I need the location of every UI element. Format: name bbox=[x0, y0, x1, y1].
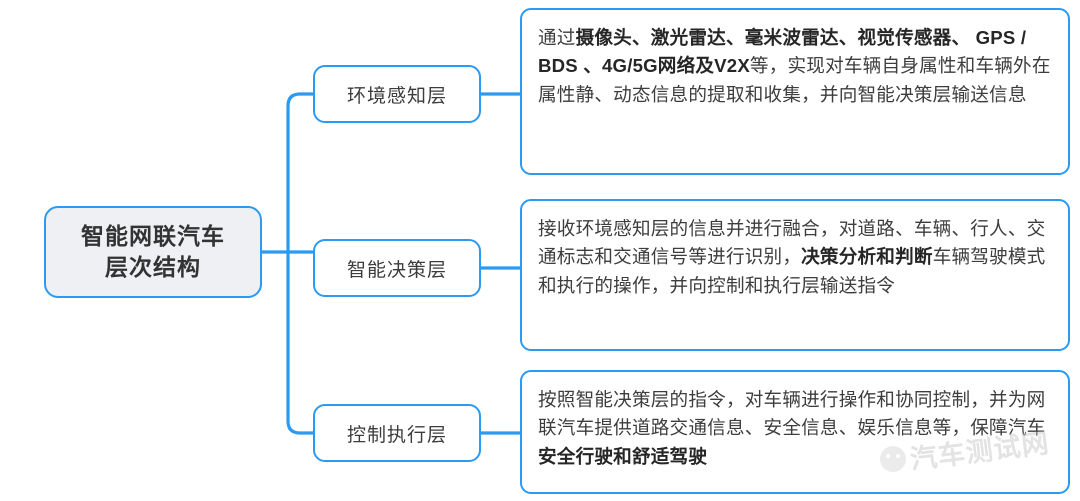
layer-node-perception[interactable]: 环境感知层 bbox=[313, 65, 481, 123]
description-text: 通过 bbox=[538, 27, 576, 48]
layer-node-label: 环境感知层 bbox=[347, 81, 447, 108]
description-node-perception[interactable]: 通过摄像头、激光雷达、毫米波雷达、视觉传感器、 GPS / BDS 、4G/5G… bbox=[520, 8, 1070, 175]
layer-node-control[interactable]: 控制执行层 bbox=[313, 404, 481, 462]
description-emphasis: 安全行驶和舒适驾驶 bbox=[538, 446, 707, 467]
root-node[interactable]: 智能网联汽车 层次结构 bbox=[44, 206, 262, 298]
description-node-control[interactable]: 按照智能决策层的指令，对车辆进行操作和协同控制，并为网联汽车提供道路交通信息、安… bbox=[520, 370, 1070, 494]
description-node-decision[interactable]: 接收环境感知层的信息并进行融合，对道路、车辆、行人、交通标志和交通信号等进行识别… bbox=[520, 199, 1070, 351]
root-node-line-1: 智能网联汽车 bbox=[81, 221, 225, 252]
connector-spine-to-layer-2 bbox=[288, 252, 313, 433]
root-node-line-2: 层次结构 bbox=[105, 252, 201, 283]
mindmap-diagram: 智能网联汽车 层次结构 环境感知层 智能决策层 控制执行层 通过摄像头、激光雷达… bbox=[0, 0, 1080, 501]
layer-node-label: 智能决策层 bbox=[347, 255, 447, 282]
connector-spine-to-layer-0 bbox=[288, 94, 313, 252]
description-text: 按照智能决策层的指令，对车辆进行操作和协同控制，并为网联汽车提供道路交通信息、安… bbox=[538, 389, 1045, 438]
layer-node-decision[interactable]: 智能决策层 bbox=[313, 239, 481, 297]
description-emphasis: 决策分析和判断 bbox=[801, 246, 933, 267]
layer-node-label: 控制执行层 bbox=[347, 420, 447, 447]
